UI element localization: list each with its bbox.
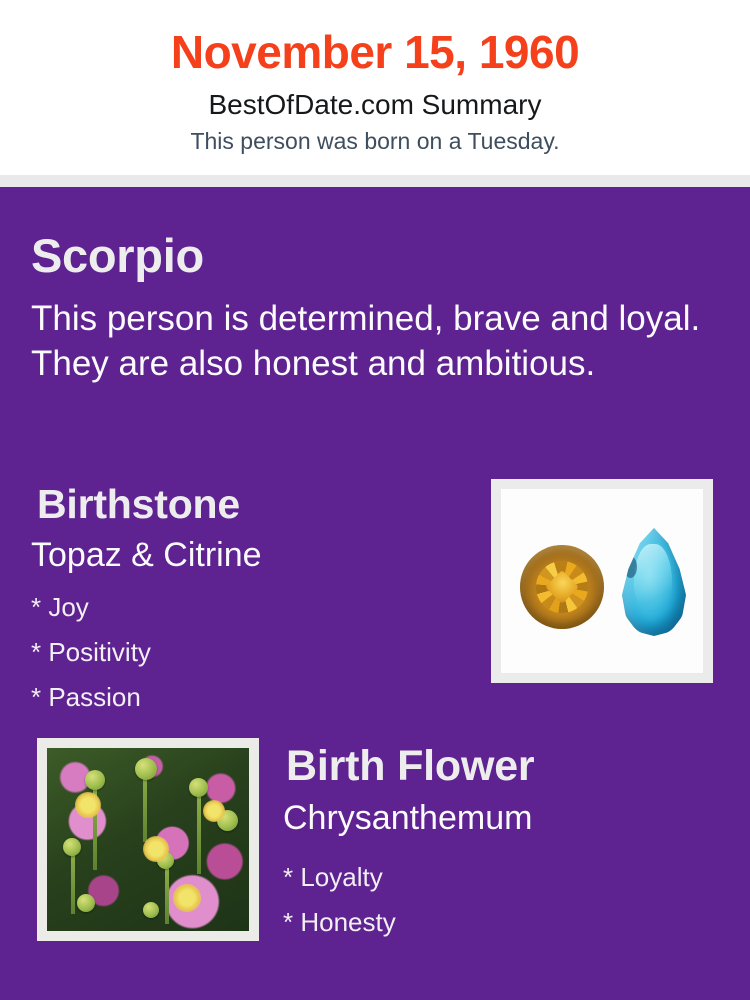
flower-bud-icon (189, 778, 208, 797)
birth-flower-image (47, 748, 249, 931)
birthstone-name: Topaz & Citrine (31, 534, 262, 576)
flower-bud-icon (135, 758, 157, 780)
flower-bud-icon (143, 902, 159, 918)
header-divider (0, 175, 750, 187)
list-item: * Honesty (283, 900, 703, 945)
list-item: * Positivity (31, 630, 461, 675)
flower-center (173, 884, 201, 912)
site-summary-subtitle: BestOfDate.com Summary (0, 88, 750, 122)
birth-flower-heading: Birth Flower (286, 740, 534, 792)
flower-center (203, 800, 225, 822)
birthstone-image (501, 489, 703, 673)
zodiac-description: This person is determined, brave and loy… (31, 296, 711, 386)
flower-stem (165, 866, 169, 924)
flower-bud-icon (63, 838, 81, 856)
date-summary-card: November 15, 1960 BestOfDate.com Summary… (0, 0, 750, 1000)
birth-flower-name: Chrysanthemum (283, 797, 532, 839)
flower-stem (197, 792, 201, 874)
flower-center (75, 792, 101, 818)
birthstone-image-frame (491, 479, 713, 683)
birth-flower-trait-list: * Loyalty * Honesty (283, 855, 703, 945)
born-day-text: This person was born on a Tuesday. (0, 127, 750, 156)
flower-center (143, 836, 169, 862)
zodiac-sign-heading: Scorpio (31, 228, 204, 284)
flower-bud-icon (85, 770, 105, 790)
flower-stem (71, 852, 75, 914)
list-item: * Loyalty (283, 855, 703, 900)
birth-flower-image-frame (37, 738, 259, 941)
list-item: * Joy (31, 585, 461, 630)
page-title: November 15, 1960 (0, 24, 750, 80)
list-item: * Passion (31, 675, 461, 720)
birthstone-heading: Birthstone (37, 479, 240, 529)
citrine-blue-gem-icon (622, 528, 686, 636)
flower-bud-icon (77, 894, 95, 912)
header-banner: November 15, 1960 BestOfDate.com Summary… (0, 0, 750, 175)
birthstone-trait-list: * Joy * Positivity * Passion (31, 585, 461, 720)
topaz-gem-icon (520, 545, 604, 629)
